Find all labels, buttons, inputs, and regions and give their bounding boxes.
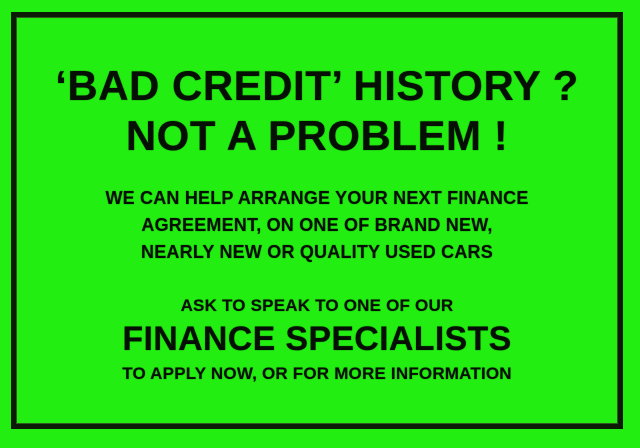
body-copy-block: WE CAN HELP ARRANGE YOUR NEXT FINANCE AG… <box>16 185 618 266</box>
body-line-3: NEARLY NEW OR QUALITY USED CARS <box>16 239 618 266</box>
headline-block: ‘BAD CREDIT’ HISTORY ? NOT A PROBLEM ! <box>16 17 618 161</box>
headline-line-2: NOT A PROBLEM ! <box>16 111 618 161</box>
cta-emphasis-text: FINANCE SPECIALISTS <box>16 318 618 360</box>
advertisement-poster: ‘BAD CREDIT’ HISTORY ? NOT A PROBLEM ! W… <box>0 0 640 448</box>
body-line-2: AGREEMENT, ON ONE OF BRAND NEW, <box>16 212 618 239</box>
poster-content: ‘BAD CREDIT’ HISTORY ? NOT A PROBLEM ! W… <box>16 17 618 424</box>
body-line-1: WE CAN HELP ARRANGE YOUR NEXT FINANCE <box>16 185 618 212</box>
headline-line-1: ‘BAD CREDIT’ HISTORY ? <box>16 61 618 111</box>
call-to-action-block: ASK TO SPEAK TO ONE OF OUR FINANCE SPECI… <box>16 294 618 386</box>
cta-lead-in-text: ASK TO SPEAK TO ONE OF OUR <box>16 294 618 318</box>
cta-footer-text: TO APPLY NOW, OR FOR MORE INFORMATION <box>16 362 618 386</box>
